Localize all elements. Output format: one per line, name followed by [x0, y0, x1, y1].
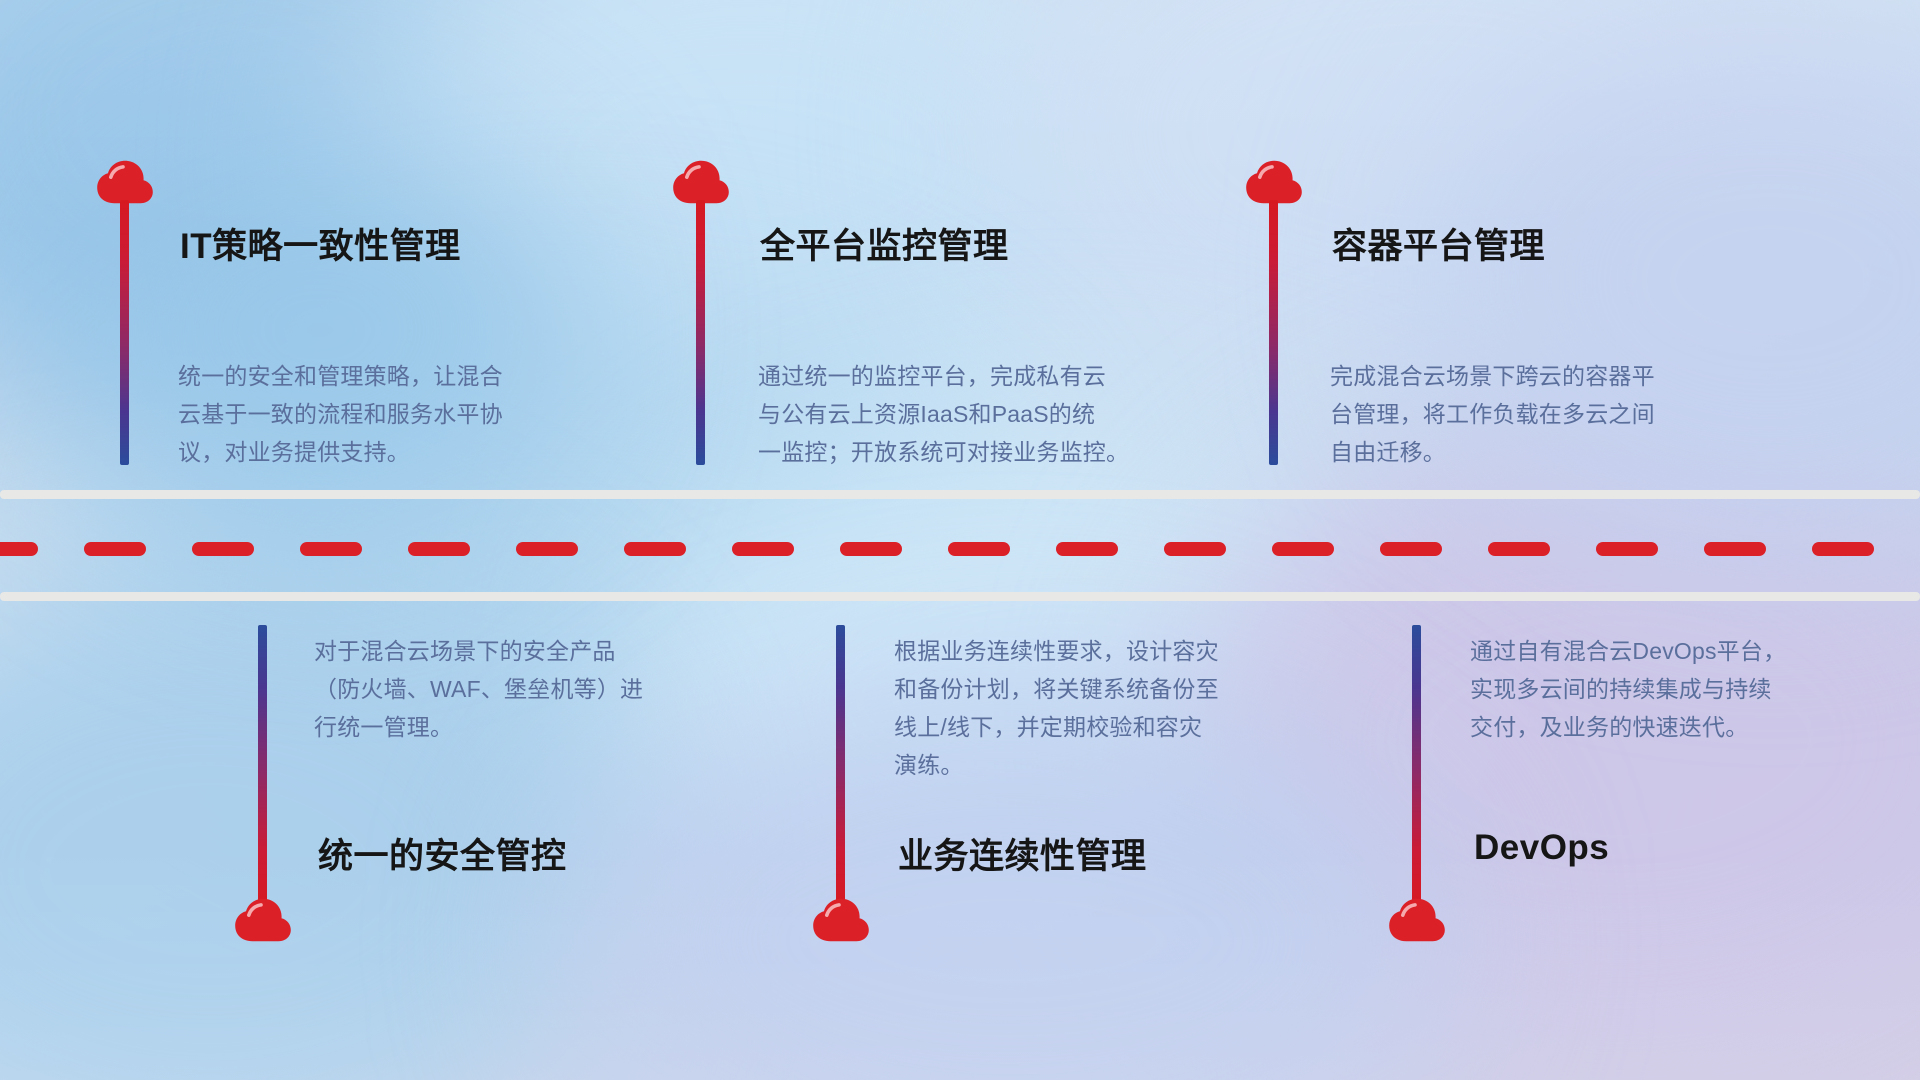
road-dash-segment [84, 542, 146, 556]
road-dash-segment [1596, 542, 1658, 556]
top-item-body-1: 统一的安全和管理策略，让混合 云基于一致的流程和服务水平协 议，对业务提供支持。 [178, 357, 503, 471]
bottom-item-body-3: 通过自有混合云DevOps平台， 实现多云间的持续集成与持续 交付，及业务的快速… [1470, 632, 1786, 746]
body-line: 对于混合云场景下的安全产品 [314, 632, 643, 670]
cloud-icon [812, 898, 870, 942]
road-dash-segment [1488, 542, 1550, 556]
body-line: 完成混合云场景下跨云的容器平 [1330, 357, 1655, 395]
pin-stem [1412, 625, 1421, 908]
body-line: 交付，及业务的快速迭代。 [1470, 708, 1786, 746]
bottom-item-body-1: 对于混合云场景下的安全产品 （防火墙、WAF、堡垒机等）进 行统一管理。 [314, 632, 643, 746]
pin-stem [258, 625, 267, 908]
body-line: 行统一管理。 [314, 708, 643, 746]
body-line: 议，对业务提供支持。 [178, 433, 503, 471]
top-item-body-2: 通过统一的监控平台，完成私有云 与公有云上资源IaaS和PaaS的统 一监控；开… [758, 357, 1129, 471]
bottom-item-title-3: DevOps [1474, 828, 1609, 868]
pin-stem [120, 200, 129, 465]
road-line-lower [0, 592, 1920, 601]
pin-stem [836, 625, 845, 908]
body-line: 与公有云上资源IaaS和PaaS的统 [758, 395, 1129, 433]
road-dash-segment [840, 542, 902, 556]
body-line: 通过自有混合云DevOps平台， [1470, 632, 1786, 670]
pin-stem [1269, 200, 1278, 465]
body-line: 统一的安全和管理策略，让混合 [178, 357, 503, 395]
top-item-title-3: 容器平台管理 [1332, 218, 1545, 269]
road-dash-segment [1164, 542, 1226, 556]
road-dash-segment [0, 542, 38, 556]
road-dash-segment [1380, 542, 1442, 556]
road-dash-segment [948, 542, 1010, 556]
pin-stem [696, 200, 705, 465]
body-line: 通过统一的监控平台，完成私有云 [758, 357, 1129, 395]
cloud-icon [1245, 160, 1303, 204]
road-dash-segment [1272, 542, 1334, 556]
road-dash-segment [1056, 542, 1118, 556]
body-line: 和备份计划，将关键系统备份至 [894, 670, 1219, 708]
cloud-icon [234, 898, 292, 942]
cloud-icon [1388, 898, 1446, 942]
body-line: 线上/线下，并定期校验和容灾 [894, 708, 1219, 746]
body-line: （防火墙、WAF、堡垒机等）进 [314, 670, 643, 708]
body-line: 一监控；开放系统可对接业务监控。 [758, 433, 1129, 471]
road-line-upper [0, 490, 1920, 499]
cloud-icon [672, 160, 730, 204]
road-dash-segment [1704, 542, 1766, 556]
top-item-title-2: 全平台监控管理 [760, 218, 1009, 269]
body-line: 根据业务连续性要求，设计容灾 [894, 632, 1219, 670]
road-dash-segment [516, 542, 578, 556]
bottom-item-title-1: 统一的安全管控 [318, 828, 567, 879]
body-line: 台管理，将工作负载在多云之间 [1330, 395, 1655, 433]
road-dash-segment [624, 542, 686, 556]
road-dash-segment [408, 542, 470, 556]
top-item-title-1: IT策略一致性管理 [180, 218, 461, 269]
road-dash-segment [300, 542, 362, 556]
road-dash-segment [192, 542, 254, 556]
road-dash-segment [732, 542, 794, 556]
body-line: 演练。 [894, 746, 1219, 784]
body-line: 自由迁移。 [1330, 433, 1655, 471]
bottom-item-title-2: 业务连续性管理 [898, 828, 1147, 879]
road-dash-segment [1812, 542, 1874, 556]
top-item-body-3: 完成混合云场景下跨云的容器平 台管理，将工作负载在多云之间 自由迁移。 [1330, 357, 1655, 471]
body-line: 实现多云间的持续集成与持续 [1470, 670, 1786, 708]
body-line: 云基于一致的流程和服务水平协 [178, 395, 503, 433]
infographic-canvas: IT策略一致性管理 统一的安全和管理策略，让混合 云基于一致的流程和服务水平协 … [0, 0, 1920, 1080]
cloud-icon [96, 160, 154, 204]
bottom-item-body-2: 根据业务连续性要求，设计容灾 和备份计划，将关键系统备份至 线上/线下，并定期校… [894, 632, 1219, 784]
